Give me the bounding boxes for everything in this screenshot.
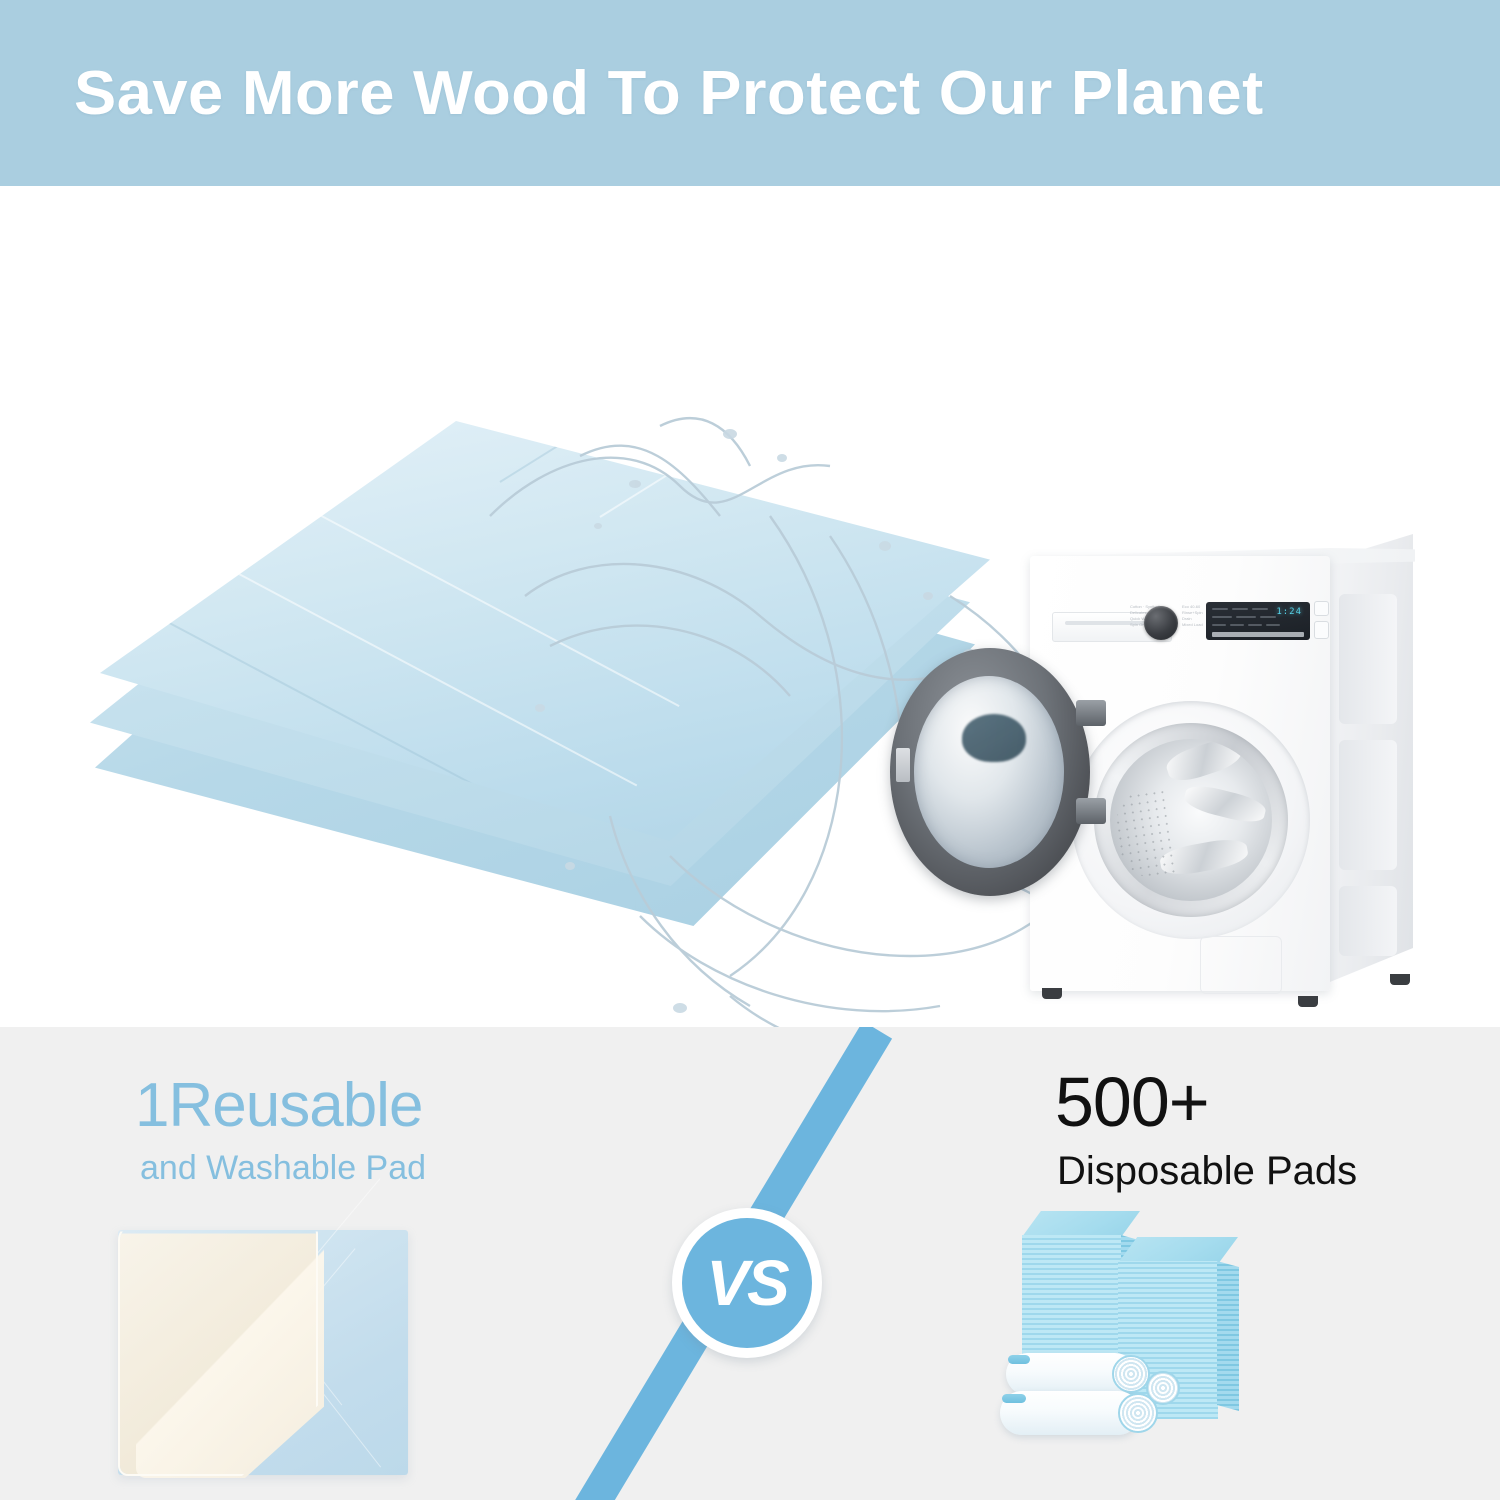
control-panel[interactable]: Cotton · SyntheticsDelicates · WoolQuick… <box>1130 598 1330 646</box>
washer-display: 1:24 <box>1206 602 1310 640</box>
disposable-subheading: Disposable Pads <box>1057 1149 1357 1194</box>
washer-foot-rear <box>1390 974 1410 985</box>
page-title: Save More Wood To Protect Our Planet <box>74 58 1264 129</box>
reusable-subheading: and Washable Pad <box>140 1149 426 1188</box>
program-dial[interactable] <box>1144 606 1178 640</box>
drum-rim <box>1094 723 1288 917</box>
pad-roll-back-end <box>1112 1355 1150 1393</box>
door-glass-reflection <box>962 714 1026 762</box>
door-hinge-lower <box>1076 798 1106 824</box>
disposable-pads-image <box>1000 1205 1330 1495</box>
washing-machine: Cotton · SyntheticsDelicates · WoolQuick… <box>1020 526 1420 1006</box>
vs-badge-circle: VS <box>682 1218 812 1348</box>
disposable-count: 500+ <box>1055 1062 1209 1142</box>
door-ring <box>890 648 1090 896</box>
display-time: 1:24 <box>1276 607 1302 617</box>
washer-foot-right <box>1298 996 1318 1007</box>
start-pause-button[interactable] <box>1314 621 1329 639</box>
washer-door[interactable] <box>890 648 1120 896</box>
panel-disposable: 500+ Disposable Pads <box>860 1027 1500 1500</box>
washer-foot-left <box>1042 988 1062 999</box>
washer-drum <box>1110 739 1272 901</box>
door-glass <box>914 676 1064 868</box>
pad-roll-side-end <box>1146 1371 1180 1405</box>
door-latch <box>896 748 910 782</box>
drum-perforations <box>1110 787 1179 880</box>
reusable-pad-image <box>118 1230 408 1475</box>
door-hinge-upper <box>1076 700 1106 726</box>
reusable-heading-rest: Reusable <box>168 1071 422 1140</box>
panel-reusable: 1Reusable and Washable Pad <box>0 1027 640 1500</box>
vs-badge: VS <box>672 1208 822 1358</box>
power-button[interactable] <box>1314 601 1329 616</box>
reusable-count: 1 <box>135 1071 168 1140</box>
header-banner: Save More Wood To Protect Our Planet <box>0 0 1500 186</box>
vs-label: VS <box>706 1251 787 1315</box>
comparison-section: 1Reusable and Washable Pad VS 500+ Dispo… <box>0 1027 1500 1500</box>
washer-side-panel <box>1325 534 1413 984</box>
hero-image-area: Cotton · SyntheticsDelicates · WoolQuick… <box>0 186 1500 1027</box>
reusable-heading: 1Reusable <box>135 1070 422 1141</box>
filter-access-panel[interactable] <box>1200 936 1282 994</box>
